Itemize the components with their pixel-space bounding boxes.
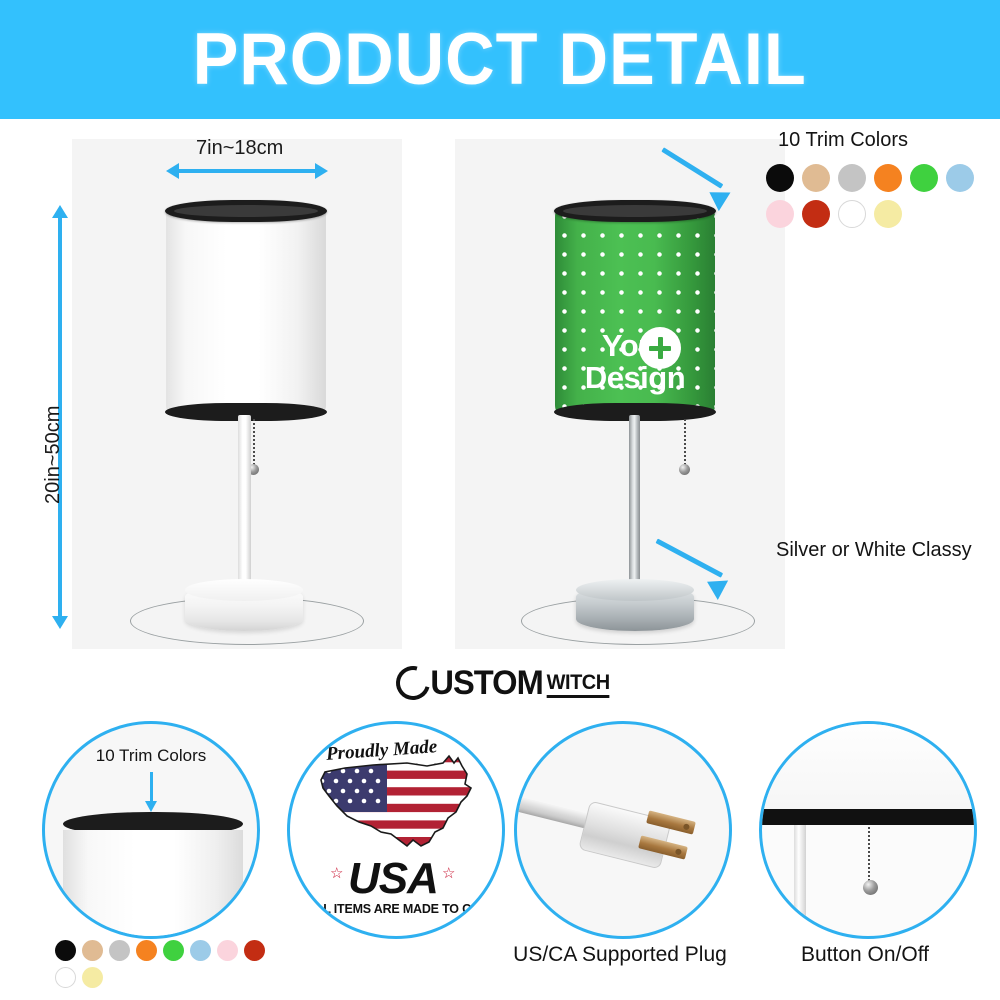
switch-pull-ball[interactable] [863,880,878,895]
trim-swatch-black[interactable] [55,940,76,961]
lamp-right-base-top [576,579,694,601]
feature-trim-colors-circle: 10 Trim Colors [42,721,260,939]
trim-swatch-tan[interactable] [82,940,103,961]
usa-star-right: ☆ [442,866,455,881]
lamp-left-base-top [185,579,303,601]
pull-chain-ball[interactable] [679,464,690,475]
trim-swatch-red[interactable] [244,940,265,961]
feature-trim-colors-inner-label: 10 Trim Colors [45,746,257,766]
usa-word: USA [348,854,438,904]
lamp-right-pole [629,415,640,600]
switch-shade-trim [759,809,977,825]
brand-logo: USTOM WITCH [396,666,611,700]
trim-swatch-gray[interactable] [838,164,866,192]
lamp-left-shade [166,207,326,415]
trim-swatch-white[interactable] [55,967,76,988]
feature-switch-caption: Button On/Off [751,943,979,967]
trim-swatch-orange[interactable] [874,164,902,192]
usa-subtitle: ALL ITEMS ARE MADE TO ORDER! [307,902,505,916]
trim-swatch-green[interactable] [910,164,938,192]
feature-switch-circle [759,721,977,939]
logo-c-icon [390,660,436,706]
base-finish-label: Silver or White Classy [776,539,972,562]
feature-plug-circle [514,721,732,939]
trim-swatch-black[interactable] [766,164,794,192]
usa-map-icon [315,754,481,862]
lamp-left-pole [238,415,251,600]
feature-usa-circle: Proudly Made in the [287,721,505,939]
logo-main-text: USTOM [430,666,542,700]
trim-swatch-orange[interactable] [136,940,157,961]
shade-inner-lip [563,205,707,217]
feature-plug-caption: US/CA Supported Plug [506,943,734,967]
trim-colors-swatches-bottom[interactable] [55,940,265,988]
trim-swatch-green[interactable] [163,940,184,961]
switch-shade-crop [759,721,977,809]
trim-swatch-light-blue[interactable] [190,940,211,961]
pull-chain[interactable] [253,419,255,467]
width-dimension-arrow [178,169,316,173]
trim-colors-down-arrow [150,772,153,802]
trim-swatch-tan[interactable] [802,164,830,192]
trim-swatch-yellow[interactable] [82,967,103,988]
shade-surface-green [555,207,715,415]
header-banner: PRODUCT DETAIL [0,0,1000,119]
logo-sub-text: WITCH [547,672,610,698]
infographic-root: PRODUCT DETAIL 7in~18 [0,0,1000,1000]
main-stage: 7in~18cm 20in~50cm Your Design [0,119,1000,659]
add-design-plus-icon[interactable] [639,327,681,369]
shade-inner-lip [174,205,318,217]
trim-swatch-gray[interactable] [109,940,130,961]
switch-pull-chain[interactable] [868,827,870,883]
plug-body [578,801,672,870]
trim-swatch-red[interactable] [802,200,830,228]
trim-swatch-yellow[interactable] [874,200,902,228]
shade-surface-white [166,207,326,415]
usa-star-left: ☆ [330,866,343,881]
trim-colors-swatches-top[interactable] [766,164,1000,228]
trim-swatch-light-blue[interactable] [946,164,974,192]
page-title: PRODUCT DETAIL [193,23,807,96]
trim-swatch-white[interactable] [838,200,866,228]
pull-chain[interactable] [684,419,686,467]
shade-crop-trim [63,812,243,939]
height-dimension-label: 20in~50cm [42,406,65,504]
switch-pole [794,825,806,939]
lamp-right-shade: Your Design [555,207,715,415]
trim-swatch-pink[interactable] [217,940,238,961]
trim-colors-title-top: 10 Trim Colors [778,129,908,152]
width-dimension-label: 7in~18cm [196,137,283,160]
trim-swatch-pink[interactable] [766,200,794,228]
